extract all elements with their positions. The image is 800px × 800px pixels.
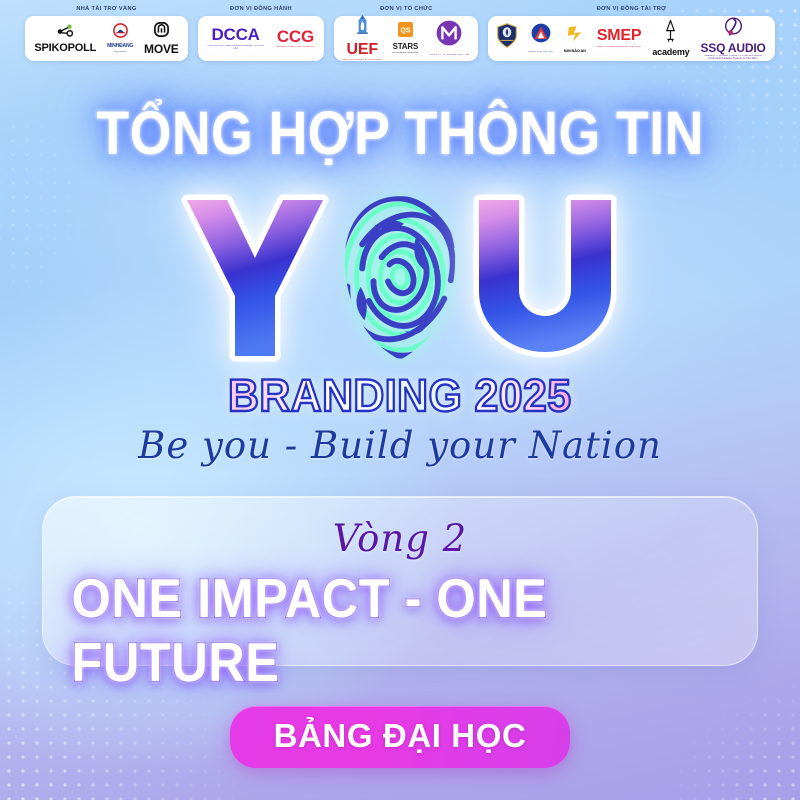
sponsor-logo[interactable]: KHOA KT-TC MARKETING - BĐ <box>429 20 469 56</box>
uef-tower-icon <box>356 15 369 40</box>
sponsor-logo-subtitle: ROOFING <box>114 51 127 54</box>
sponsor-group: ĐƠN VỊ ĐỒNG HÀNHDCCACÂU LẠC BỘ NHÀ DOANH… <box>198 6 325 61</box>
move-rounded-icon <box>154 22 169 41</box>
sponsor-logo-name: CCG <box>277 28 314 45</box>
sponsor-logo[interactable]: MINHĐANGROOFING <box>107 23 133 53</box>
sponsor-logo-name: MINHĐANG <box>107 44 133 49</box>
sponsor-logo-subtitle: PHÚC LỘC AN GIA <box>528 51 552 54</box>
svg-text:QS: QS <box>400 27 410 34</box>
sponsor-card: DCCACÂU LẠC BỘ NHÀ DOANH NGHIỆP TƯƠNG LA… <box>198 16 325 61</box>
logo-letter-y <box>181 192 329 364</box>
sponsor-logo-name: SSQ AUDIO <box>701 42 766 54</box>
sponsor-logo[interactable]: MOVE <box>144 22 179 55</box>
sponsor-logo[interactable]: DCCACÂU LẠC BỘ NHÀ DOANH NGHIỆP TƯƠNG LA… <box>207 26 265 50</box>
you-branding-logo <box>0 188 800 368</box>
sponsor-logo-subtitle: KHOA KT-TC MARKETING - BĐ <box>429 54 469 57</box>
page-title: TỔNG HỢP THÔNG TIN <box>96 98 703 168</box>
branding-year: BRANDING 2025 <box>228 370 572 422</box>
ssq-audio-clef-icon <box>725 16 742 40</box>
sponsor-logo[interactable]: UEFĐẠI HỌC KINH TẾ TÀI CHÍNH <box>343 15 381 62</box>
sponsor-logo[interactable]: SSQ AUDIOLeading - The Best Choice Of Pr… <box>701 16 766 61</box>
phuc-loc-triangle-icon <box>531 23 551 47</box>
round-info-panel: Vòng 2 ONE IMPACT - ONE FUTURE <box>42 496 758 666</box>
sponsor-card: UEFĐẠI HỌC KINH TẾ TÀI CHÍNHQSSTARSBUSIN… <box>334 16 478 61</box>
sponsor-group-title: ĐƠN VỊ ĐỒNG HÀNH <box>230 6 292 12</box>
tagline: Be you - Build your Nation <box>138 424 662 467</box>
tagline-container: Be you - Build your Nation <box>0 424 800 467</box>
sponsor-logo[interactable]: SPIKOPOLL <box>34 24 96 54</box>
sponsor-group: ĐƠN VỊ ĐỒNG TÀI TRỢPHÚC LỘC AN GIAKIM BẢ… <box>488 6 774 61</box>
headline-container: TỔNG HỢP THÔNG TIN <box>0 98 800 168</box>
sponsor-strip: NHÀ TÀI TRỢ VÀNGSPIKOPOLLMINHĐANGROOFING… <box>0 6 800 61</box>
sponsor-logo-subtitle: CÂU LẠC BỘ NHÀ DOANH NGHIỆP TƯƠNG LAI <box>207 45 265 51</box>
sponsor-logo-name: academy <box>652 48 689 57</box>
sponsor-logo[interactable] <box>497 23 517 54</box>
cta-container: BẢNG ĐẠI HỌC <box>0 706 800 768</box>
sponsor-group: NHÀ TÀI TRỢ VÀNGSPIKOPOLLMINHĐANGROOFING… <box>25 6 187 61</box>
branding-year-container: BRANDING 2025 <box>0 370 800 422</box>
sponsor-group-title: ĐƠN VỊ ĐỒNG TÀI TRỢ <box>597 6 667 12</box>
sponsor-logo-name: STARS <box>393 43 419 51</box>
shield-crest-icon <box>497 23 517 52</box>
sponsor-logo-subtitle: ELECTROMECHANICAL VIETNAM <box>597 46 641 49</box>
sponsor-group-title: NHÀ TÀI TRỢ VÀNG <box>76 6 136 12</box>
sponsor-logo[interactable]: PHÚC LỘC AN GIA <box>528 23 552 53</box>
marketing-m-icon <box>436 20 462 50</box>
sponsor-logo[interactable]: SMEPELECTROMECHANICAL VIETNAM <box>597 28 642 48</box>
spikopoll-node-icon <box>57 24 73 41</box>
fingerprint-globe-icon <box>325 189 475 367</box>
sponsor-card: PHÚC LỘC AN GIAKIM BẢO ANSMEPELECTROMECH… <box>488 16 774 61</box>
sponsor-logo-subtitle: BUSINESS SCHOOL <box>392 52 418 55</box>
sponsor-logo-name: KIM BẢO AN <box>564 49 586 53</box>
sponsor-logo-name: UEF <box>347 42 378 58</box>
qs-stars-icon: QS <box>398 22 413 41</box>
sponsor-logo-subtitle: Leading - The Best Choice Of Premium Hom… <box>704 55 762 61</box>
poster-canvas: NHÀ TÀI TRỢ VÀNGSPIKOPOLLMINHĐANGROOFING… <box>0 0 800 800</box>
university-table-button[interactable]: BẢNG ĐẠI HỌC <box>230 706 571 768</box>
university-table-button-label: BẢNG ĐẠI HỌC <box>274 717 527 755</box>
sponsor-logo[interactable]: academy <box>652 20 689 57</box>
sponsor-card: SPIKOPOLLMINHĐANGROOFINGMOVE <box>25 16 187 61</box>
minhdang-circle-icon <box>113 23 128 42</box>
sponsor-logo[interactable]: KIM BẢO AN <box>564 25 586 53</box>
sponsor-logo[interactable]: QSSTARSBUSINESS SCHOOL <box>392 22 418 55</box>
sponsor-group: ĐƠN VỊ TỔ CHỨCUEFĐẠI HỌC KINH TẾ TÀI CHÍ… <box>334 6 478 61</box>
round-slogan: ONE IMPACT - ONE FUTURE <box>72 566 729 694</box>
sponsor-group-title: ĐƠN VỊ TỔ CHỨC <box>380 6 433 12</box>
sponsor-logo-subtitle: GLOBAL CREATIVE COMPANY <box>276 46 316 49</box>
sponsor-logo[interactable]: CCGGLOBAL CREATIVE COMPANY <box>276 28 316 49</box>
sponsor-logo-name: SPIKOPOLL <box>34 43 96 54</box>
logo-letter-u <box>471 192 619 364</box>
sponsor-logo-name: MOVE <box>144 43 179 55</box>
sponsor-logo-subtitle: ĐẠI HỌC KINH TẾ TÀI CHÍNH <box>343 59 381 62</box>
kim-bao-an-icon <box>566 25 584 47</box>
sponsor-logo-name: DCCA <box>211 26 259 43</box>
sponsor-logo-name: SMEP <box>597 28 642 44</box>
aim-academy-icon <box>664 20 677 46</box>
round-label: Vòng 2 <box>333 517 467 560</box>
